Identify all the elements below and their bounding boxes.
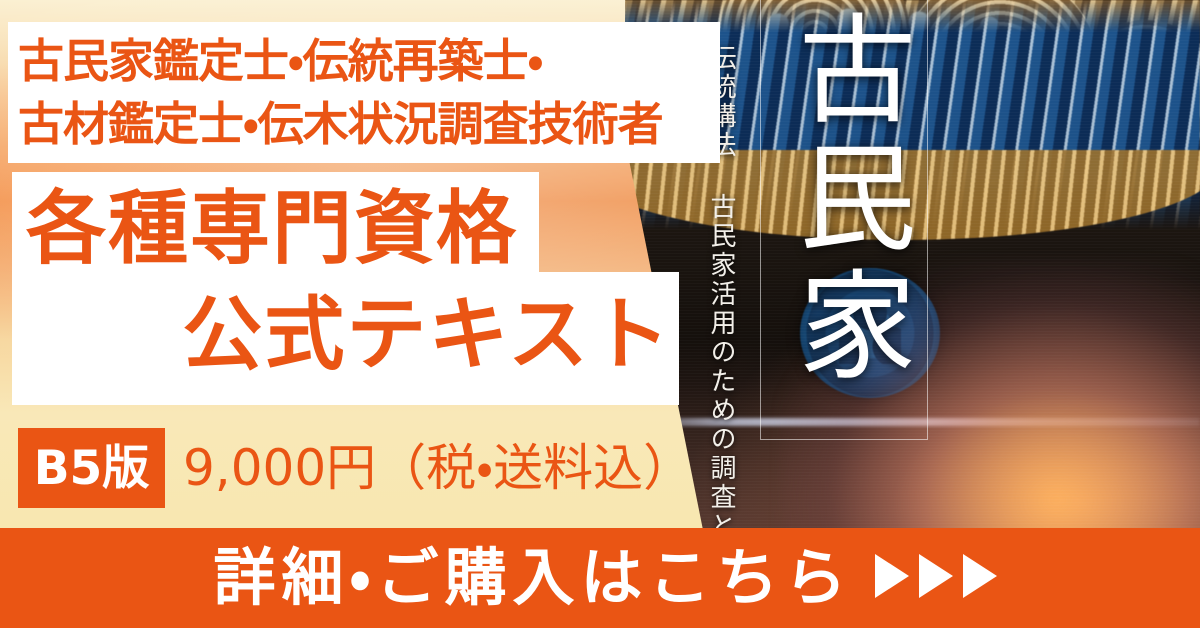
price-text: 9,000円（税・送料込）: [183, 443, 693, 493]
size-badge: B5版: [18, 428, 165, 508]
price-row: B5版 9,000円（税・送料込）: [18, 428, 718, 508]
cta-arrows: [875, 554, 997, 602]
cta-label: 詳細・ご購入はこちら: [203, 547, 852, 609]
book-cover-title: 古民家: [772, 8, 916, 438]
cta-button-bar[interactable]: 詳細・ご購入はこちら: [0, 528, 1200, 628]
chevron-right-icon: [875, 554, 909, 598]
chevron-right-icon: [919, 554, 953, 598]
certifications-list: 古民家鑑定士・伝統再築士・ 古材鑑定士・伝木状況調査技術者: [18, 30, 718, 157]
certification-line-1: 古民家鑑定士・伝統再築士・: [18, 30, 718, 93]
headline-line-1: 各種専門資格: [12, 176, 688, 282]
certification-line-2: 古材鑑定士・伝木状況調査技術者: [18, 93, 718, 156]
promo-banner: 古民家 伝統構法 古民家活用のための調査と再生の 古民家鑑定士・伝統再築士・ 古…: [0, 0, 1200, 628]
chevron-right-icon: [963, 554, 997, 598]
main-headline: 各種専門資格 公式テキスト: [12, 176, 688, 404]
headline-line-2: 公式テキスト: [12, 282, 688, 388]
